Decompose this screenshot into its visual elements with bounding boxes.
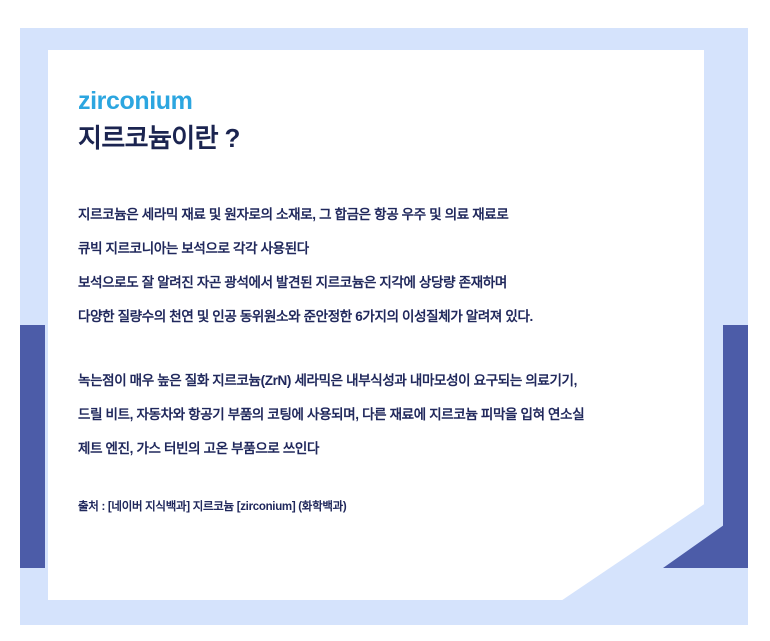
paragraph-one: 지르코늄은 세라믹 재료 및 원자로의 소재로, 그 합금은 항공 우주 및 의… xyxy=(78,198,684,334)
paragraph-line: 지르코늄은 세라믹 재료 및 원자로의 소재로, 그 합금은 항공 우주 및 의… xyxy=(78,198,684,232)
paragraph-two: 녹는점이 매우 높은 질화 지르코늄(ZrN) 세라믹은 내부식성과 내마모성이… xyxy=(78,364,684,466)
content-card: zirconium 지르코늄이란 ? 지르코늄은 세라믹 재료 및 원자로의 소… xyxy=(48,50,704,600)
source-citation: 출처 : [네이버 지식백과] 지르코늄 [zirconium] (화학백과) xyxy=(78,498,684,514)
paragraph-line: 큐빅 지르코니아는 보석으로 각각 사용된다 xyxy=(78,232,684,266)
paragraph-line: 드릴 비트, 자동차와 항공기 부품의 코팅에 사용되며, 다른 재료에 지르코… xyxy=(78,398,684,432)
paragraph-line: 다양한 질량수의 천연 및 인공 동위원소와 준안정한 6가지의 이성질체가 알… xyxy=(78,300,684,334)
accent-bar-left xyxy=(20,325,45,568)
slide-canvas: zirconium 지르코늄이란 ? 지르코늄은 세라믹 재료 및 원자로의 소… xyxy=(0,0,770,641)
brand-title: zirconium xyxy=(78,88,684,116)
card-content: zirconium 지르코늄이란 ? 지르코늄은 세라믹 재료 및 원자로의 소… xyxy=(78,88,684,514)
paragraph-line: 제트 엔진, 가스 터빈의 고온 부품으로 쓰인다 xyxy=(78,432,684,466)
paragraph-line: 보석으로도 잘 알려진 자곤 광석에서 발견된 지르코늄은 지각에 상당량 존재… xyxy=(78,266,684,300)
paragraph-line: 녹는점이 매우 높은 질화 지르코늄(ZrN) 세라믹은 내부식성과 내마모성이… xyxy=(78,364,684,398)
page-title: 지르코늄이란 ? xyxy=(78,122,684,155)
